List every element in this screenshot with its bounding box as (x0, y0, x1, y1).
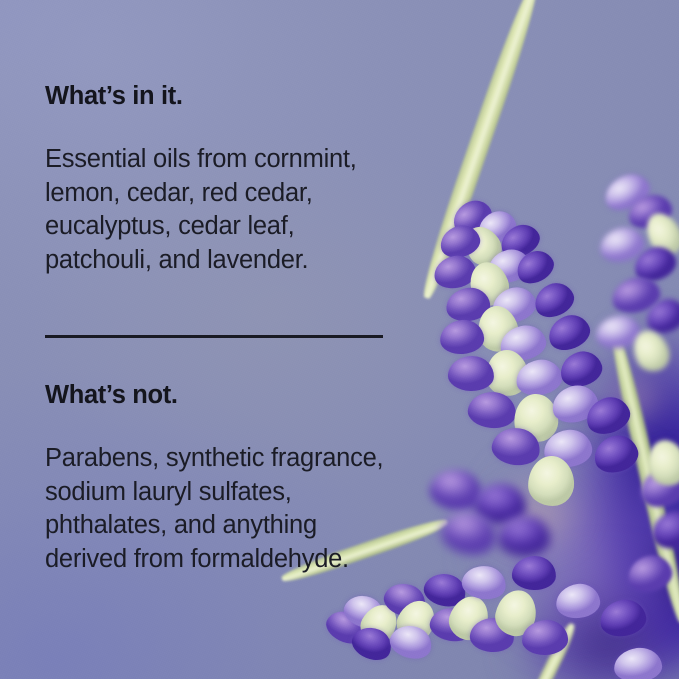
section-heading-whats-not: What’s not. (45, 381, 178, 410)
product-ingredients-poster: What’s in it. Essential oils from cornmi… (0, 0, 679, 679)
text-content: What’s in it. Essential oils from cornmi… (45, 0, 485, 679)
section-heading-whats-in-it: What’s in it. (45, 82, 183, 111)
section-divider (45, 335, 383, 338)
section-body-whats-not: Parabens, synthetic fragrance, sodium la… (45, 442, 383, 576)
section-body-whats-in-it: Essential oils from cornmint, lemon, ced… (45, 143, 357, 277)
